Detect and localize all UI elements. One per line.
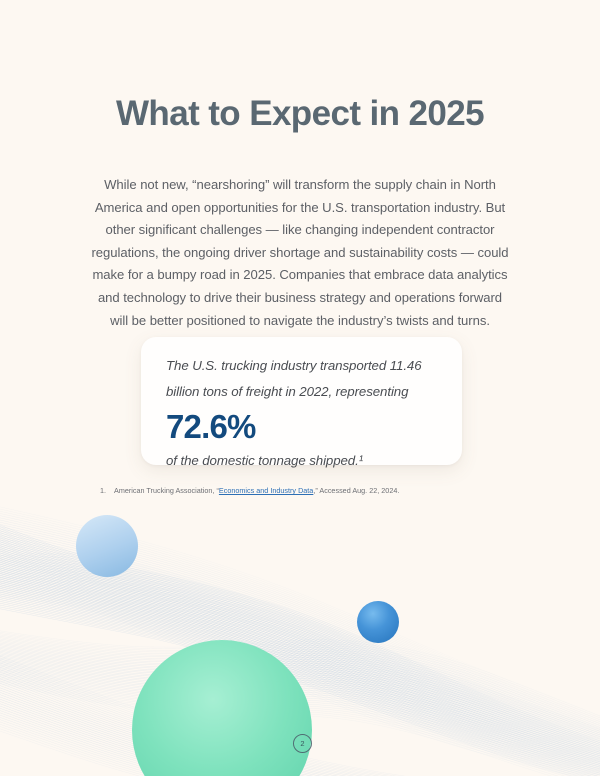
document-page: What to Expect in 2025 While not new, “n… <box>0 0 600 776</box>
page-number-badge: 2 <box>293 734 312 753</box>
stat-line-1: The U.S. trucking industry transported 1… <box>166 353 440 379</box>
stat-value: 72.6% <box>166 407 440 446</box>
intro-paragraph: While not new, “nearshoring” will transf… <box>90 136 510 332</box>
blue-sphere <box>357 601 399 643</box>
green-sphere <box>132 640 312 776</box>
footnote-prefix: American Trucking Association, “ <box>114 486 219 495</box>
footnote-citation: 1.American Trucking Association, “Econom… <box>100 486 399 495</box>
page-title: What to Expect in 2025 <box>0 0 600 136</box>
stat-line-2: billion tons of freight in 2022, represe… <box>166 379 440 405</box>
footnote-link[interactable]: Economics and Industry Data <box>219 486 313 495</box>
page-content: What to Expect in 2025 While not new, “n… <box>0 0 600 332</box>
light-blue-sphere <box>76 515 138 577</box>
footnote-suffix: ,” Accessed Aug. 22, 2024. <box>313 486 399 495</box>
stat-line-3: of the domestic tonnage shipped.¹ <box>166 448 440 474</box>
footnote-marker: 1. <box>100 486 114 495</box>
stat-card-body: The U.S. trucking industry transported 1… <box>141 337 462 474</box>
stat-callout-card: The U.S. trucking industry transported 1… <box>141 337 462 465</box>
